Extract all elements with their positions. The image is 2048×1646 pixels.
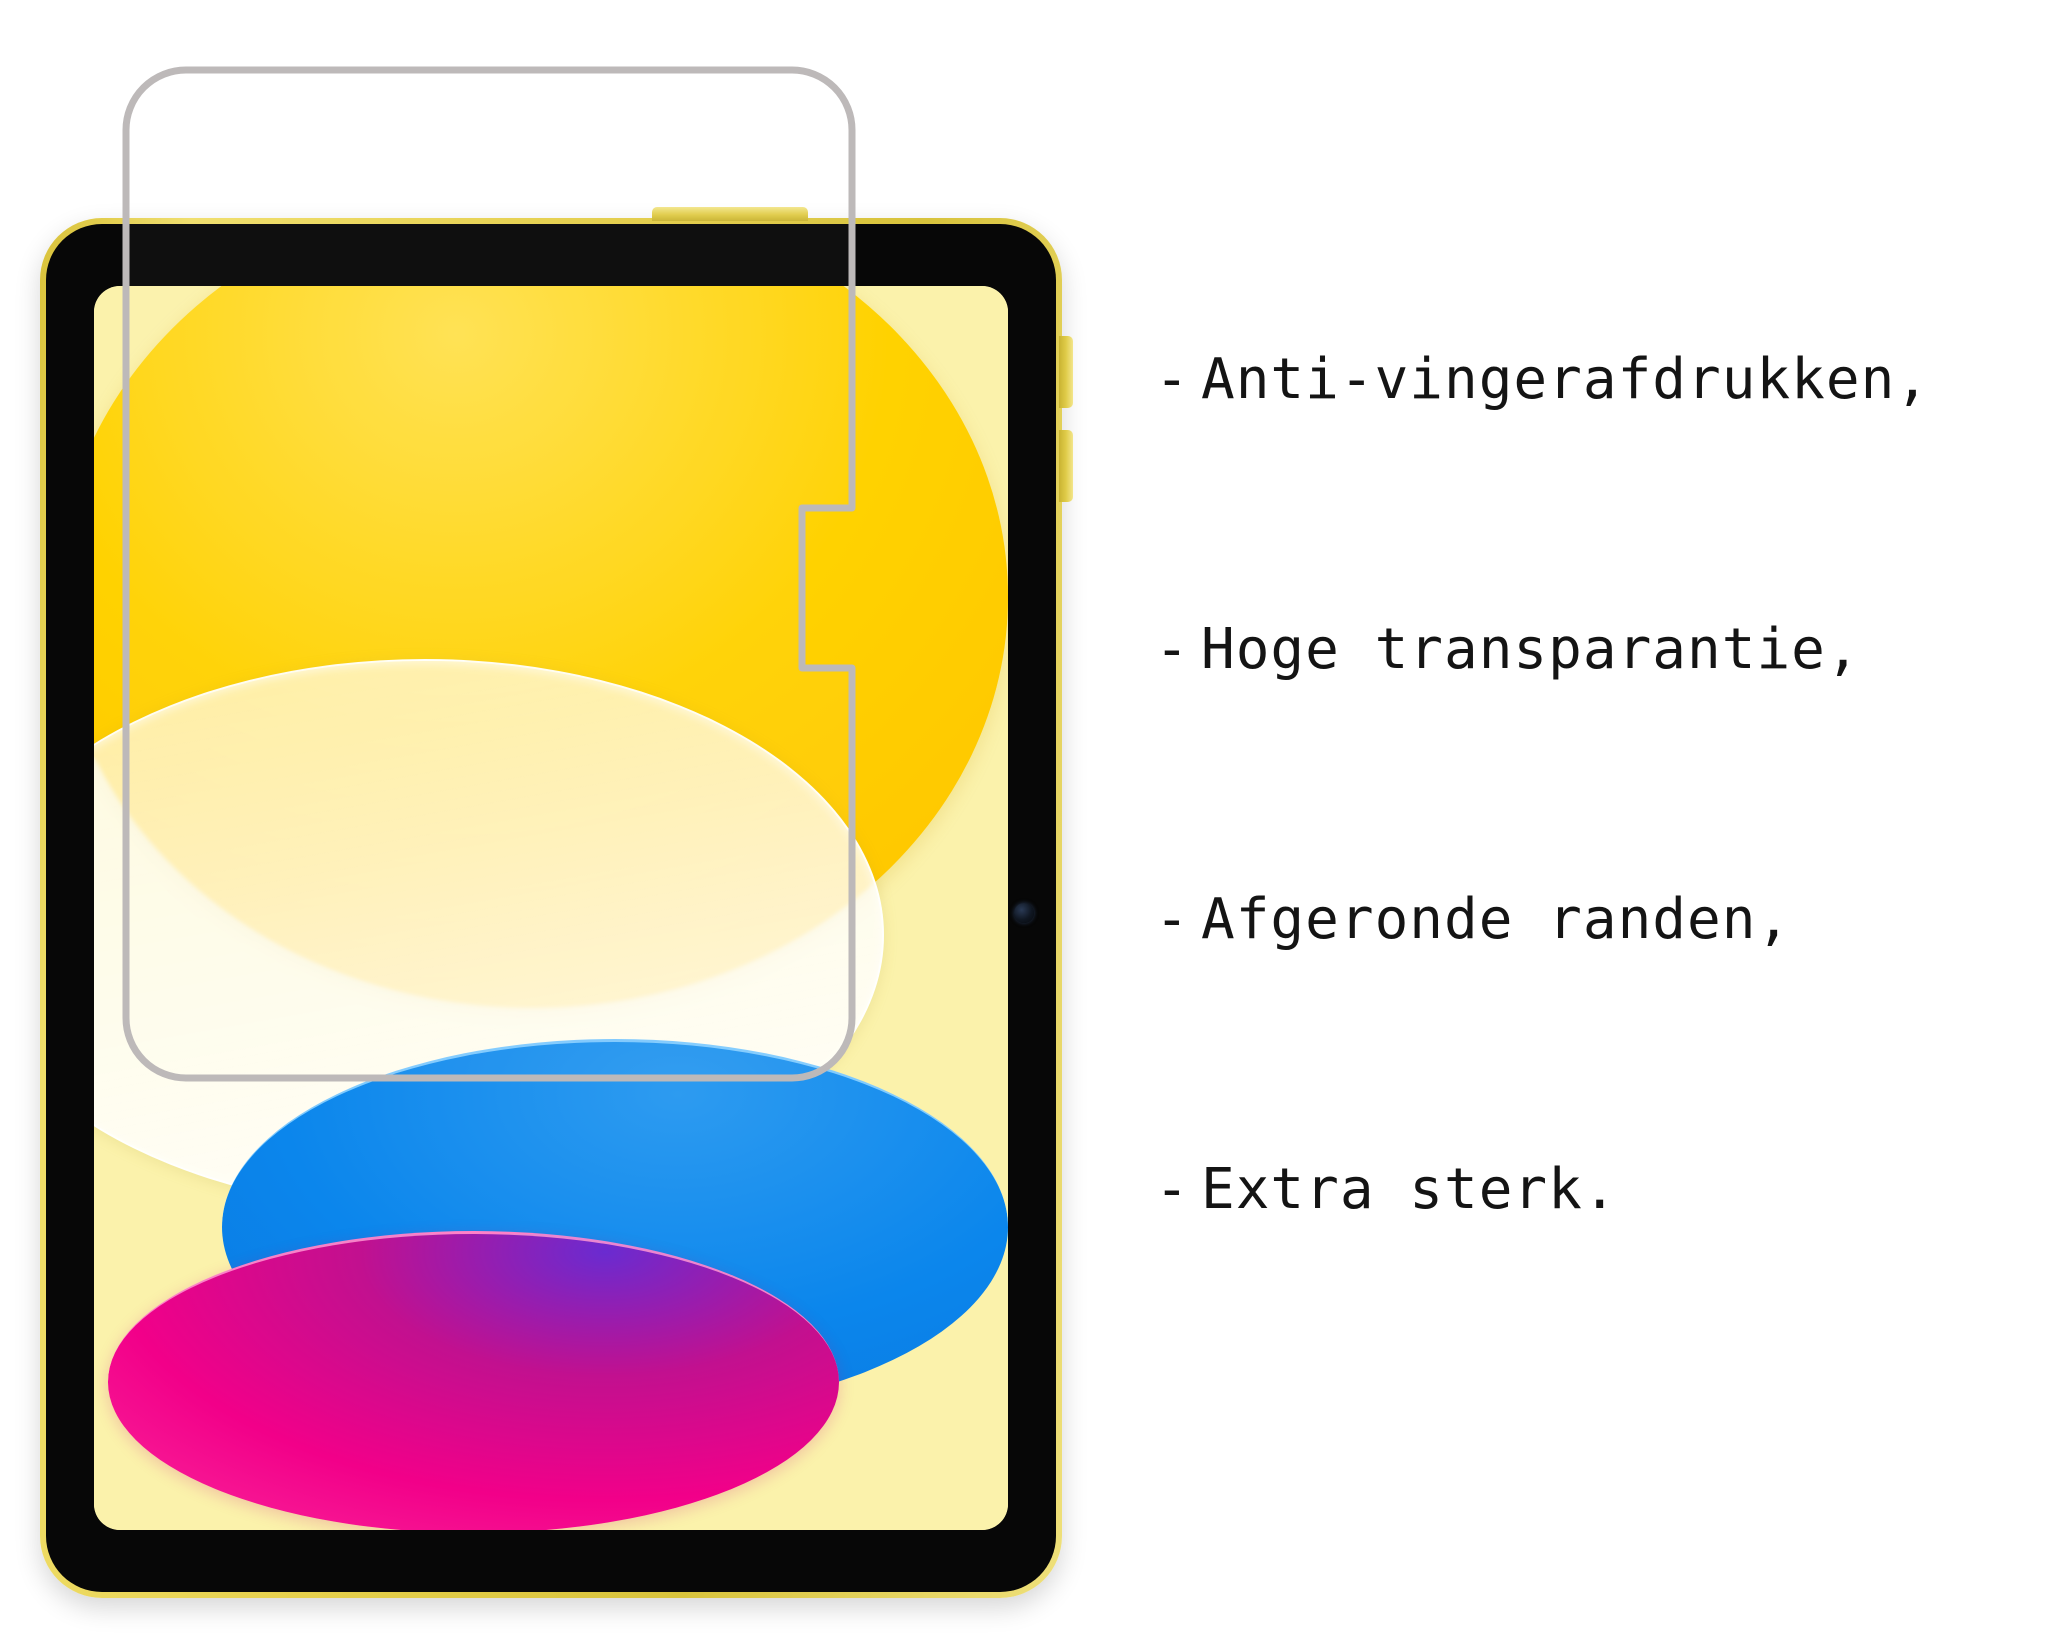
wallpaper bbox=[94, 286, 1008, 1530]
bullet-dash: - bbox=[1155, 1162, 1201, 1218]
power-button[interactable] bbox=[652, 207, 808, 221]
tablet-device bbox=[40, 218, 1062, 1598]
bullet-dash: - bbox=[1155, 352, 1201, 408]
feature-label: Extra sterk. bbox=[1201, 1162, 1618, 1218]
bullet-dash: - bbox=[1155, 622, 1201, 678]
volume-down-button[interactable] bbox=[1059, 430, 1073, 502]
feature-item: - Hoge transparantie, bbox=[1155, 622, 2035, 892]
wallpaper-ellipse-pink bbox=[108, 1231, 839, 1530]
feature-label: Afgeronde randen, bbox=[1201, 892, 1791, 948]
tablet-bezel bbox=[46, 224, 1056, 1592]
volume-up-button[interactable] bbox=[1059, 336, 1073, 408]
feature-list: - Anti-vingerafdrukken, - Hoge transpara… bbox=[1155, 352, 2035, 1218]
bullet-dash: - bbox=[1155, 892, 1201, 948]
feature-label: Anti-vingerafdrukken, bbox=[1201, 352, 1930, 408]
front-camera-icon bbox=[1014, 903, 1034, 923]
tablet-screen bbox=[94, 286, 1008, 1530]
product-image-canvas: - Anti-vingerafdrukken, - Hoge transpara… bbox=[0, 0, 2048, 1646]
feature-item: - Anti-vingerafdrukken, bbox=[1155, 352, 2035, 622]
feature-item: - Afgeronde randen, bbox=[1155, 892, 2035, 1162]
feature-item: - Extra sterk. bbox=[1155, 1162, 2035, 1218]
feature-label: Hoge transparantie, bbox=[1201, 622, 1861, 678]
